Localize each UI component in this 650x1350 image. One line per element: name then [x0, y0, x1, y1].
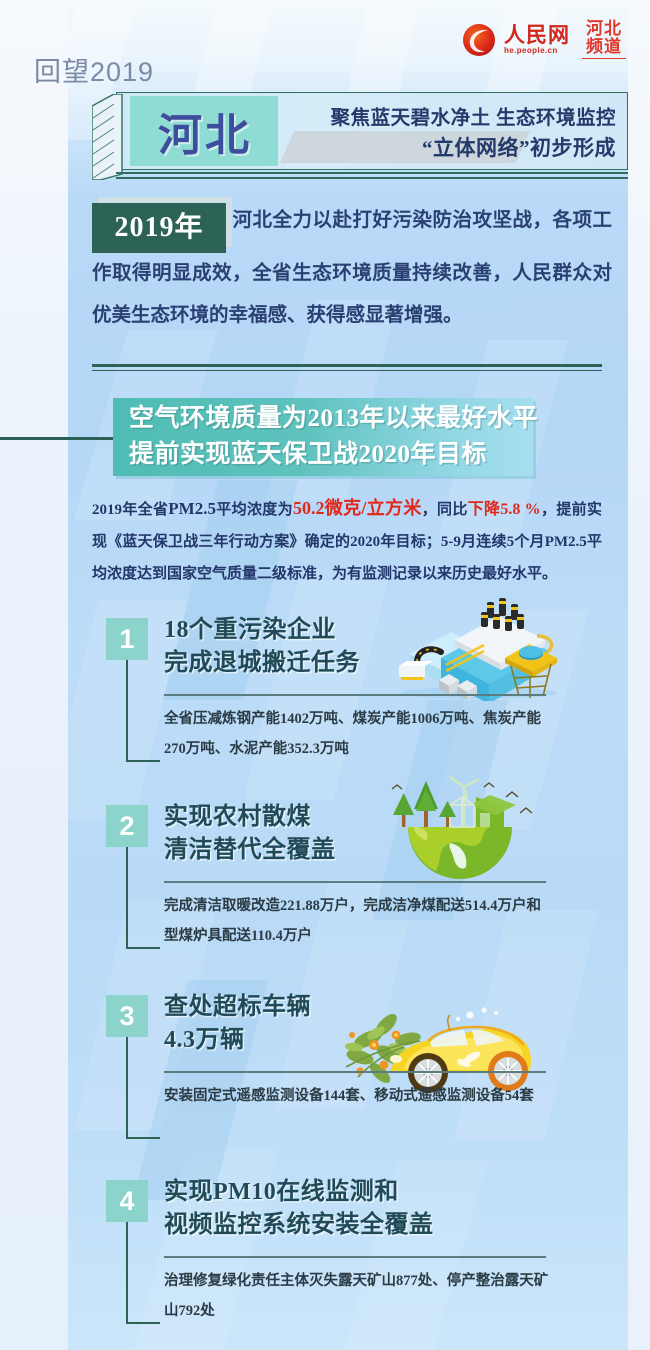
logo-chinese-name: 人民网 — [504, 24, 570, 46]
logo-domain: he.people.cn — [504, 46, 558, 55]
province-chip-label: 河北 — [132, 98, 278, 164]
section-a-leader-line — [0, 437, 120, 440]
body-decline-value: 下降5.8 % — [468, 501, 541, 518]
intro-paragraph: 2019年 河北全力以赴打好污染防治攻坚战，各项工作取得明显成效，全省生态环境质… — [92, 200, 612, 337]
body-t3: 平均浓度为 — [216, 502, 293, 518]
section-1-description: 全省压减炼钢产能1402万吨、煤炭产能1006万吨、焦炭产能270万吨、水泥产能… — [164, 704, 554, 764]
section-4-number-badge: 4 — [106, 1180, 148, 1222]
intro-divider — [92, 364, 602, 371]
header-banner: 河北 聚焦蓝天碧水净土 生态环境监控 “立体网络”初步形成 — [92, 92, 628, 178]
section-3-number-badge: 3 — [106, 995, 148, 1037]
page-kicker: 回望2019 — [34, 50, 154, 89]
intro-divider-rule-2 — [92, 370, 602, 372]
year-chip-label: 2019年 — [92, 203, 226, 253]
section-4-bracket — [126, 1222, 162, 1324]
green-earth-wind-turbine-illustration-icon — [380, 775, 540, 892]
section-4-description: 治理修复绿化责任主体灭失露天矿山877处、停产整治露天矿山792处 — [164, 1266, 554, 1326]
year-chip: 2019年 — [92, 203, 226, 253]
intro-divider-rule-1 — [92, 364, 602, 367]
infographic-page: 人民网 he.people.cn 河北 频道 回望2019 — [0, 0, 650, 1350]
section-a-heading-line-2: 提前实现蓝天保卫战2020年目标 — [129, 437, 529, 473]
body-pm25: PM2.5 — [168, 499, 216, 518]
intro-block: 2019年 河北全力以赴打好污染防治攻坚战，各项工作取得明显成效，全省生态环境质… — [92, 200, 612, 337]
people-cn-swirl-logo-icon — [462, 23, 496, 57]
section-3-bracket — [126, 1037, 162, 1139]
channel-line-1: 河北 — [586, 20, 622, 38]
banner-headline-line-1: 聚焦蓝天碧水净土 生态环境监控 — [331, 101, 616, 130]
section-2-rule — [164, 881, 546, 883]
channel-label[interactable]: 河北 频道 — [582, 20, 626, 59]
banner-headline-line-2: “立体网络”初步形成 — [422, 132, 616, 162]
isometric-factory-illustration-icon — [387, 596, 567, 706]
section-2-bracket — [126, 847, 162, 949]
section-2-number-badge: 2 — [106, 805, 148, 847]
section-a-heading-line-1: 空气环境质量为2013年以来最好水平 — [129, 401, 529, 437]
site-logo[interactable]: 人民网 he.people.cn 河北 频道 — [462, 20, 626, 59]
banner-bottom-rule-2 — [116, 177, 628, 179]
body-concentration-value: 50.2微克/立方米 — [293, 498, 422, 518]
channel-line-2: 频道 — [586, 38, 622, 56]
section-1-number-badge: 1 — [106, 618, 148, 660]
section-3-rule — [164, 1071, 546, 1073]
section-2-description: 完成清洁取暖改造221.88万户，完成洁净煤配送514.4万户和型煤炉具配送11… — [164, 891, 554, 951]
section-4-title-line-1: 实现PM10在线监测和 — [164, 1176, 544, 1209]
section-4-rule — [164, 1256, 546, 1258]
section-1-bracket — [126, 660, 162, 762]
section-4-title: 实现PM10在线监测和 视频监控系统安装全覆盖 — [164, 1176, 544, 1242]
section-a-body: 2019年全省PM2.5平均浓度为50.2微克/立方米，同比下降5.8 %，提前… — [92, 492, 602, 590]
channel-underline — [582, 58, 626, 60]
body-t1: 2019年全省 — [92, 502, 168, 518]
section-1-rule — [164, 694, 546, 696]
section-a-heading-box: 空气环境质量为2013年以来最好水平 提前实现蓝天保卫战2020年目标 — [113, 398, 533, 476]
banner-bottom-rule-1 — [116, 172, 628, 174]
body-t5: ，同比 — [422, 502, 468, 518]
banner-headline: 聚焦蓝天碧水净土 生态环境监控 “立体网络”初步形成 — [284, 95, 622, 167]
section-3-description: 安装固定式遥感监测设备144套、移动式遥感监测设备54套 — [164, 1081, 554, 1111]
banner-hatch-decor — [92, 94, 124, 180]
section-4-title-line-2: 视频监控系统安装全覆盖 — [164, 1209, 544, 1242]
